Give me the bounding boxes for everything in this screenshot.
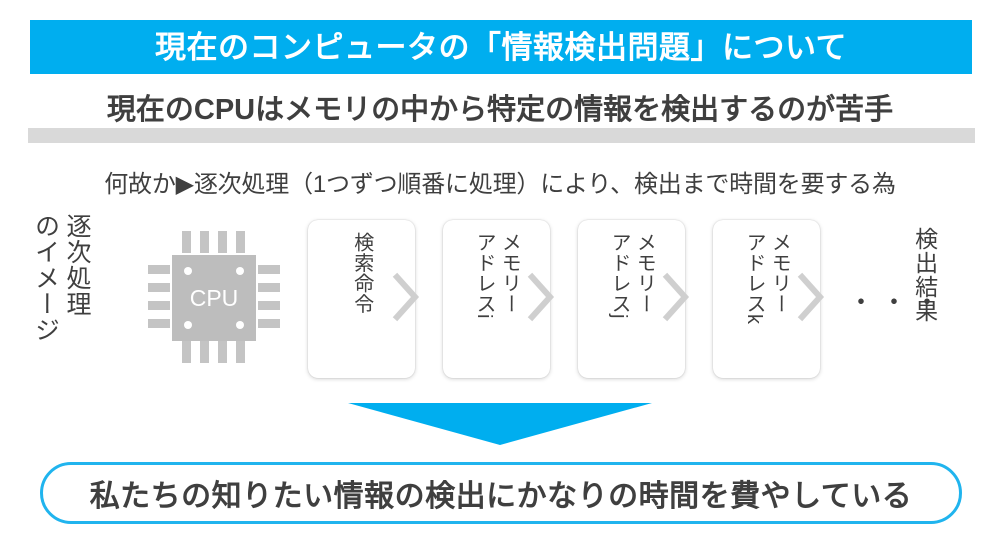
down-arrow-icon (348, 403, 652, 445)
card-4-suffix: k (743, 314, 765, 325)
slide-root: 現在のコンピュータの「情報検出問題」について 現在のCPUはメモリの中から特定の… (0, 0, 1000, 553)
card-2-col-right: メモリー (497, 232, 521, 314)
chevron-right-icon-3 (659, 271, 693, 323)
cpu-chip-icon: CPU (148, 227, 268, 367)
card-2-suffix: i (473, 314, 495, 319)
conclusion-text: 私たちの知りたい情報の検出にかなりの時間を費やしている (90, 471, 913, 515)
page-title: 現在のコンピュータの「情報検出問題」について (155, 32, 847, 63)
pipeline-diagram: 逐次処理 のイメージ CPU (0, 205, 1000, 395)
card-1-col-right: 検索命令 (349, 232, 373, 314)
card-3-col-left-text: アドレス (608, 232, 630, 314)
subtitle-block: 現在のCPUはメモリの中から特定の情報を検出するのが苦手 (0, 92, 1000, 148)
card-2-col-left: アドレスi (472, 232, 496, 319)
card-3-suffix: j (608, 314, 630, 319)
card-4-col-left-text: アドレス (743, 232, 765, 314)
title-bar: 現在のコンピュータの「情報検出問題」について (30, 20, 972, 74)
sequential-label-col-right: 逐次処理 (62, 213, 92, 317)
card-3-col-right: メモリー (632, 232, 656, 314)
sequential-label-col-left: のイメージ (30, 213, 60, 343)
conclusion-box: 私たちの知りたい情報の検出にかなりの時間を費やしている (40, 462, 962, 524)
card-4-col-right: メモリー (767, 232, 791, 314)
reason-line: 何故か▶逐次処理（1つずつ順番に処理）により、検出まで時間を要する為 (0, 164, 1000, 199)
subtitle-text: 現在のCPUはメモリの中から特定の情報を検出するのが苦手 (0, 92, 1000, 128)
subtitle-highlight-band (28, 128, 975, 143)
chevron-right-icon-2 (524, 271, 558, 323)
cpu-label: CPU (172, 255, 256, 341)
detection-result-label: 検出結果 (910, 227, 938, 323)
card-4-col-left: アドレスk (742, 232, 766, 325)
chevron-right-icon-1 (389, 271, 423, 323)
card-3-col-left: アドレスj (607, 232, 631, 319)
sequential-processing-label: 逐次処理 のイメージ (30, 213, 91, 385)
chevron-right-icon-4 (794, 271, 828, 323)
card-2-col-left-text: アドレス (473, 232, 495, 314)
